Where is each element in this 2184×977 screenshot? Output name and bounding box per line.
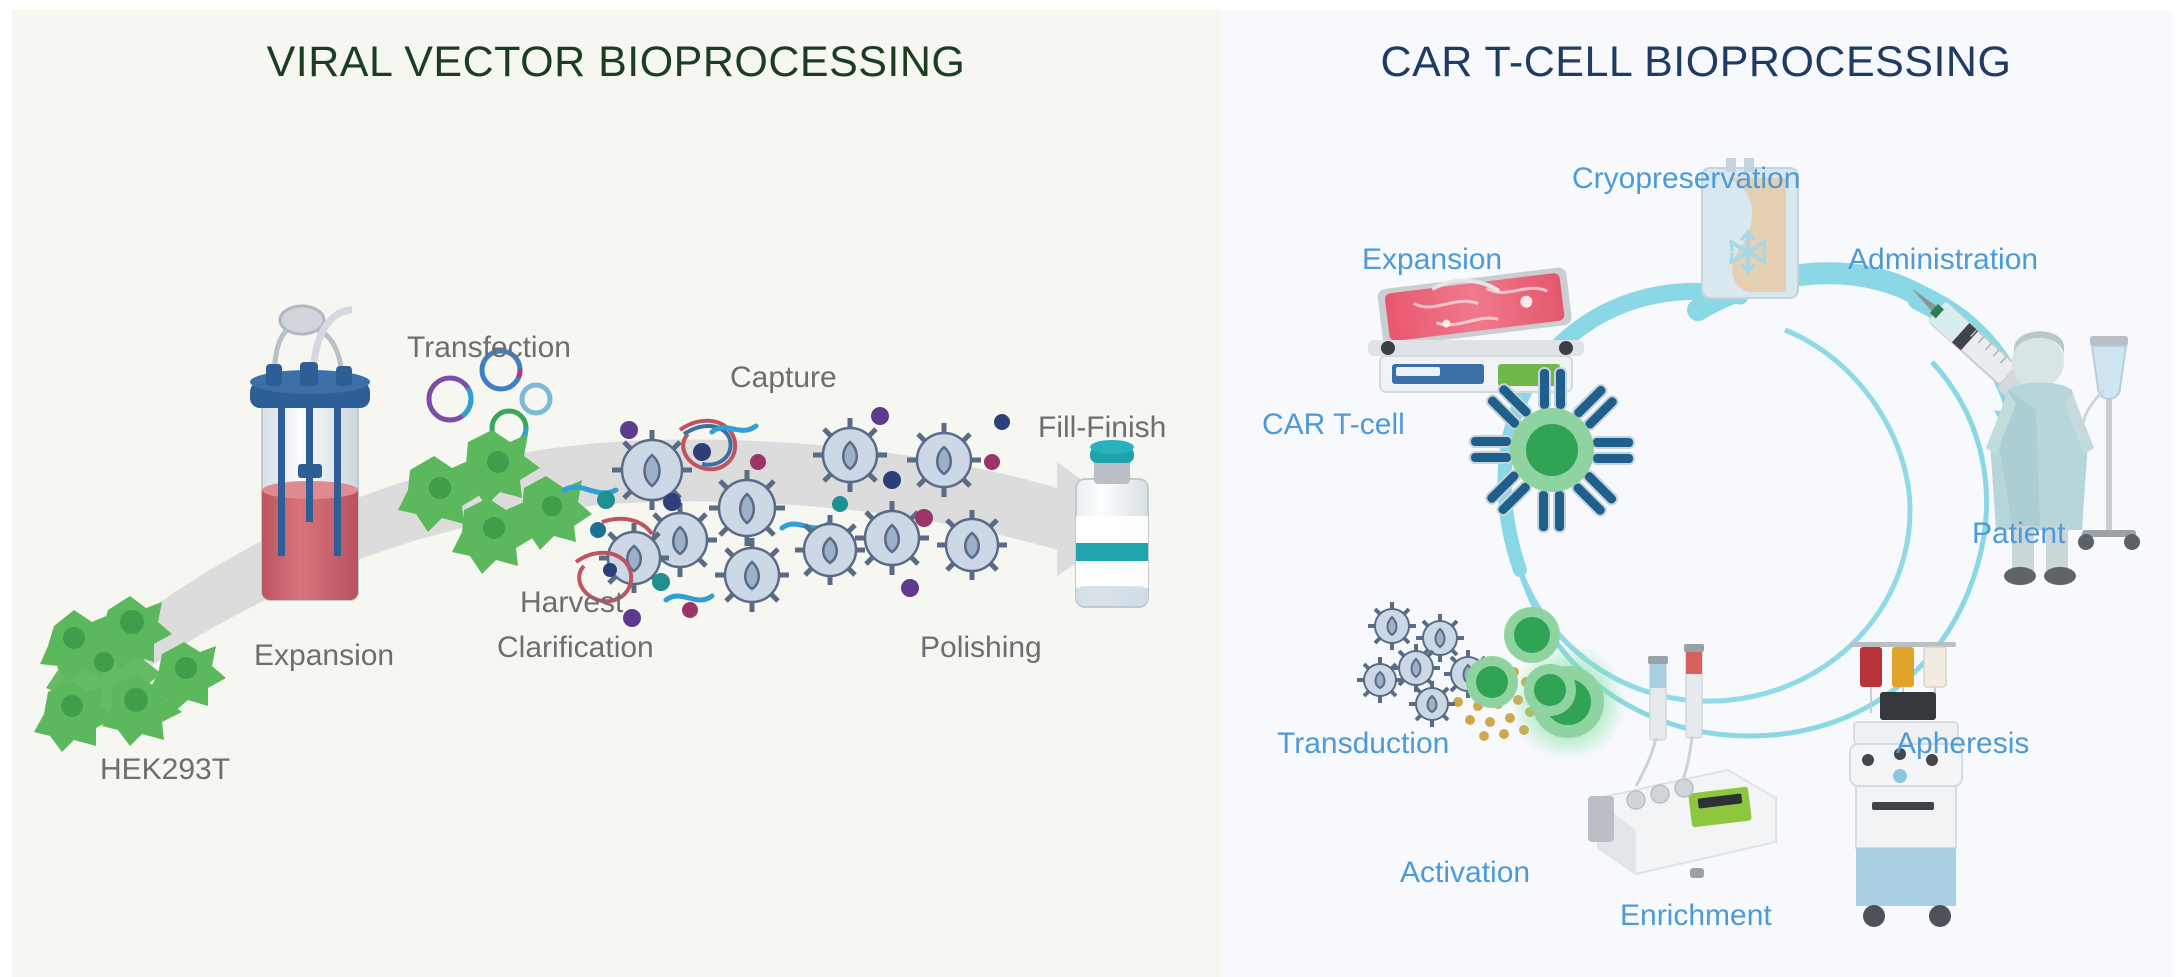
transduction-virus-particles [1357,602,1492,727]
fill-finish-vial [1076,440,1148,607]
expansion-rocker-bioreactor [1368,267,1584,392]
label-transfection: Transfection [407,332,571,364]
label-expansion-cart: Expansion [1362,244,1502,276]
label-expansion: Expansion [254,640,394,672]
viral-vector-panel: VIRAL VECTOR BIOPROCESSING [12,10,1220,977]
label-capture: Capture [730,362,837,394]
label-activation: Activation [1400,857,1530,889]
label-administration: Administration [1848,244,2038,276]
label-car-t-cell: CAR T-cell [1262,409,1405,441]
label-patient: Patient [1972,518,2065,550]
car-t-cell-panel: CAR T-CELL BIOPROCESSING [1220,10,2172,977]
viral-vector-illustration [12,10,1220,977]
label-apheresis: Apheresis [1896,728,2029,760]
label-transduction: Transduction [1277,728,1449,760]
label-fill-finish: Fill-Finish [1038,412,1166,444]
label-polishing: Polishing [920,632,1042,664]
bioreactor-vessel [250,306,370,600]
apheresis-machine [1850,642,1962,927]
label-enrichment: Enrichment [1620,900,1772,932]
label-clarification: Clarification [497,632,654,664]
label-hek293t: HEK293T [100,754,230,786]
label-cryopreservation: Cryopreservation [1572,163,1800,195]
label-harvest: Harvest [520,587,623,619]
bioprocessing-figure: VIRAL VECTOR BIOPROCESSING [0,0,2184,977]
transfection-plasmids [429,351,550,445]
car-t-cell-illustration [1220,10,2172,977]
